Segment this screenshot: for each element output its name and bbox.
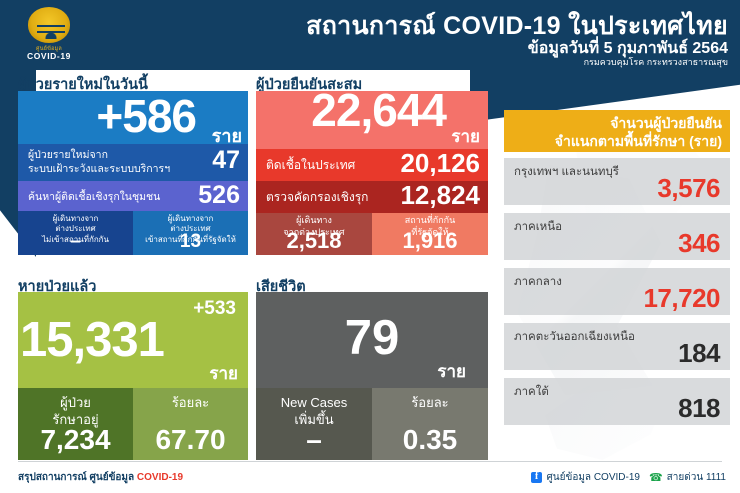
- facebook-icon[interactable]: [531, 472, 542, 483]
- subcell-value: –: [18, 231, 133, 253]
- card-cumulative: 22,644 ราย ติดเชื้อในประเทศ 20,126 ตรวจค…: [256, 91, 488, 255]
- facebook-page-label[interactable]: ศูนย์ข้อมูล COVID-19: [546, 470, 640, 485]
- new-cases-subcells: ผู้เดินทางจาก ต่างประเทศ ไม่เข้าสถานที่ก…: [18, 211, 248, 255]
- subcell-label-line1: ผู้เดินทางจาก: [53, 214, 99, 223]
- card-recovered: +533 15,331 ราย ผู้ป่วย รักษาอยู่ 7,234 …: [18, 292, 248, 460]
- recovered-total-row: +533 15,331 ราย: [18, 292, 248, 388]
- row-label-line1: ผู้ป่วยรายใหม่จาก: [28, 149, 108, 161]
- hotline-label: สายด่วน 1111: [667, 470, 726, 485]
- region-value: 3,576: [657, 173, 720, 204]
- recovered-total-value: 15,331: [20, 316, 164, 365]
- region-row-central: ภาคกลาง 17,720: [504, 268, 730, 315]
- card-new-cases: +586 ราย ผู้ป่วยรายใหม่จาก ระบบเฝ้าระวัง…: [18, 91, 248, 255]
- subcell-imported-no-quarantine: ผู้เดินทางจาก ต่างประเทศ ไม่เข้าสถานที่ก…: [18, 211, 133, 255]
- row-value: 526: [198, 181, 240, 210]
- footer-source-label: สรุปสถานการณ์ ศูนย์ข้อมูล COVID-19: [18, 470, 183, 485]
- row-label: ติดเชื้อในประเทศ: [266, 156, 355, 175]
- subcell-label: ร้อยละ: [133, 395, 248, 412]
- region-name: ภาคกลาง: [514, 273, 562, 291]
- region-row-northeast: ภาคตะวันออกเฉียงเหนือ 184: [504, 323, 730, 370]
- cumulative-total-unit: ราย: [451, 123, 480, 150]
- row-value: 12,824: [400, 180, 480, 211]
- phone-icon: ☎: [649, 471, 663, 484]
- region-value: 17,720: [643, 283, 720, 314]
- new-cases-total-row: +586 ราย: [18, 91, 248, 144]
- issuing-organization: กรมควบคุมโรค กระทรวงสาธารณสุข: [0, 55, 728, 69]
- region-row-north: ภาคเหนือ 346: [504, 213, 730, 260]
- deaths-subcells: New Cases เพิ่มขึ้น – ร้อยละ 0.35: [256, 388, 488, 460]
- recovered-total-unit: ราย: [209, 360, 238, 387]
- subcell-value: 2,518: [256, 228, 372, 254]
- subcell-state-quarantine: สถานที่กักกัน ที่รัฐจัดให้ 1,916: [372, 213, 488, 255]
- recovered-delta-value: +533: [193, 298, 236, 320]
- deaths-total-row: 79 ราย: [256, 292, 488, 388]
- footer-source-text: สรุปสถานการณ์ ศูนย์ข้อมูล: [18, 472, 137, 483]
- subcell-label-line1: สถานที่กักกัน: [405, 215, 456, 225]
- footer-divider: [18, 461, 722, 462]
- cumulative-row-active-screening: ตรวจคัดกรองเชิงรุก 12,824: [256, 181, 488, 213]
- subcell-currently-treated: ผู้ป่วย รักษาอยู่ 7,234: [18, 388, 133, 460]
- subcell-value: 0.35: [372, 424, 488, 456]
- subcell-recovered-percent: ร้อยละ 67.70: [133, 388, 248, 460]
- row-value: 20,126: [400, 148, 480, 179]
- subcell-label-line1: ผู้เดินทาง: [296, 215, 332, 225]
- region-row-bangkok-nonthaburi: กรุงเทพฯ และนนทบุรี 3,576: [504, 158, 730, 205]
- region-value: 346: [678, 228, 720, 259]
- deaths-total-unit: ราย: [437, 358, 466, 385]
- row-label: ผู้ป่วยรายใหม่จาก ระบบเฝ้าระวังและระบบบร…: [28, 148, 170, 176]
- row-label: ตรวจคัดกรองเชิงรุก: [266, 188, 368, 207]
- subcell-value: –: [256, 424, 372, 456]
- row-label-line2: ระบบเฝ้าระวังและระบบบริการฯ: [28, 163, 170, 175]
- region-value: 818: [678, 393, 720, 424]
- subcell-value: 13: [133, 231, 248, 253]
- regions-banner: จำนวนผู้ป่วยยืนยัน จำแนกตามพื้นที่รักษา …: [504, 110, 730, 152]
- subcell-deaths-percent: ร้อยละ 0.35: [372, 388, 488, 460]
- subcell-label-line1: ผู้ป่วย: [60, 395, 91, 410]
- subcell-label-line1: New Cases: [281, 395, 347, 410]
- cumulative-total-row: 22,644 ราย: [256, 91, 488, 149]
- infographic-canvas: ศูนย์ข้อมูล COVID-19 สถานการณ์ COVID-19 …: [0, 0, 740, 493]
- cumulative-total-value: 22,644: [311, 87, 446, 133]
- region-row-south: ภาคใต้ 818: [504, 378, 730, 425]
- subcell-label: ร้อยละ: [372, 395, 488, 412]
- recovered-subcells: ผู้ป่วย รักษาอยู่ 7,234 ร้อยละ 67.70: [18, 388, 248, 460]
- subcell-deaths-new: New Cases เพิ่มขึ้น –: [256, 388, 372, 460]
- subcell-label-line1: ผู้เดินทางจาก: [168, 214, 214, 223]
- subcell-value: 1,916: [372, 228, 488, 254]
- regions-banner-line2: จำแนกตามพื้นที่รักษา (ราย): [555, 131, 722, 153]
- region-name: ภาคตะวันออกเฉียงเหนือ: [514, 328, 635, 346]
- subcell-value: 7,234: [18, 424, 133, 456]
- subcell-imported-travelers: ผู้เดินทาง จากต่างประเทศ 2,518: [256, 213, 372, 255]
- cumulative-subcells: ผู้เดินทาง จากต่างประเทศ 2,518 สถานที่กั…: [256, 213, 488, 255]
- card-deaths: 79 ราย New Cases เพิ่มขึ้น – ร้อยละ 0.35: [256, 292, 488, 460]
- cumulative-row-local: ติดเชื้อในประเทศ 20,126: [256, 149, 488, 181]
- region-value: 184: [678, 338, 720, 369]
- new-cases-total-value: +586: [96, 93, 196, 139]
- new-cases-row-active-search: ค้นหาผู้ติดเชื้อเชิงรุกในชุมชน 526: [18, 181, 248, 211]
- region-name: ภาคใต้: [514, 383, 549, 401]
- region-name: กรุงเทพฯ และนนทบุรี: [514, 163, 619, 181]
- row-label: ค้นหาผู้ติดเชื้อเชิงรุกในชุมชน: [28, 188, 160, 205]
- footer-contacts: ศูนย์ข้อมูล COVID-19 ☎ สายด่วน 1111: [531, 470, 726, 485]
- deaths-total-value: 79: [256, 314, 488, 363]
- subcell-imported-state-quarantine: ผู้เดินทางจาก ต่างประเทศ เข้าสถานที่กักก…: [133, 211, 248, 255]
- row-value: 47: [212, 146, 240, 175]
- new-cases-row-surveillance: ผู้ป่วยรายใหม่จาก ระบบเฝ้าระวังและระบบบร…: [18, 144, 248, 181]
- region-name: ภาคเหนือ: [514, 218, 562, 236]
- footer-source-highlight: COVID-19: [137, 472, 183, 483]
- subcell-value: 67.70: [133, 424, 248, 456]
